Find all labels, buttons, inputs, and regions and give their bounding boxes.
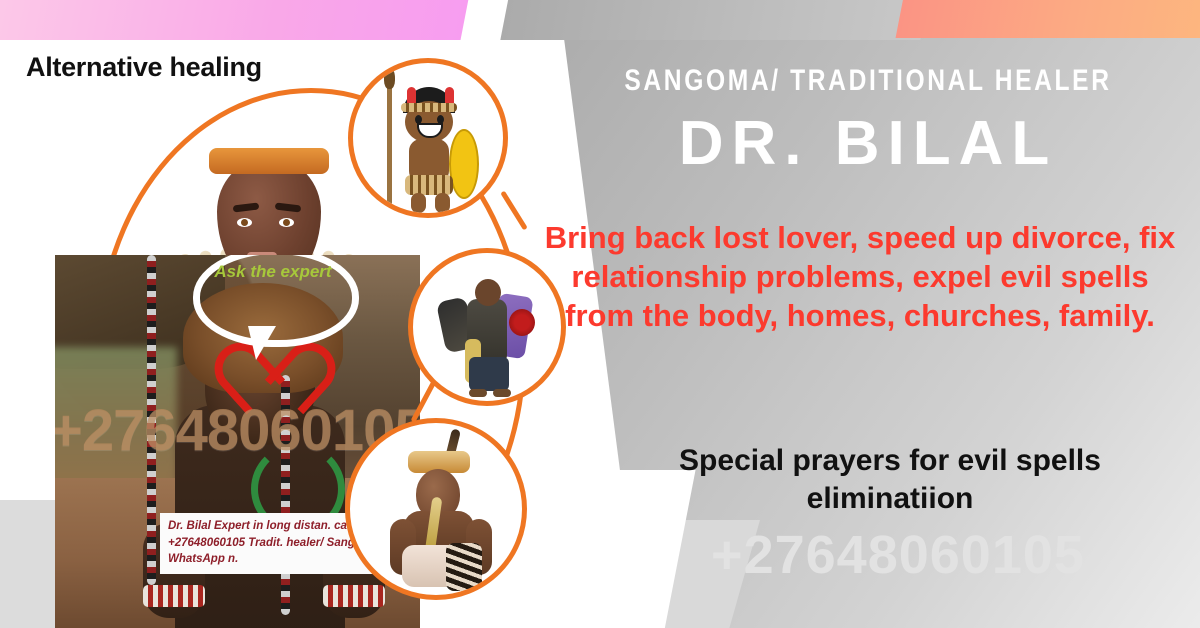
prayers-text: Special prayers for evil spells eliminat… <box>596 442 1184 518</box>
left-artwork-column: Alternative healing <box>0 0 540 628</box>
top-band-orange <box>896 0 1200 38</box>
phone-watermark: +27648060105 <box>596 524 1200 586</box>
healer-photo: +27648060105 Ask the expert Dr. Bilal Ex… <box>55 255 420 628</box>
page-title: Alternative healing <box>26 52 262 83</box>
circle-connector-1 <box>500 191 528 231</box>
top-band-grey <box>500 0 929 40</box>
speech-bubble-label: Ask the expert <box>213 261 333 282</box>
subtitle-kicker: SANGOMA/ TRADITIONAL HEALER <box>612 64 1124 98</box>
circle-zulu-warrior <box>348 58 508 218</box>
services-text: Bring back lost lover, speed up divorce,… <box>540 218 1180 335</box>
circle-crouching-healer <box>345 418 527 600</box>
poster-canvas: Alternative healing <box>0 0 1200 628</box>
healer-name: DR. BILAL <box>556 108 1180 179</box>
